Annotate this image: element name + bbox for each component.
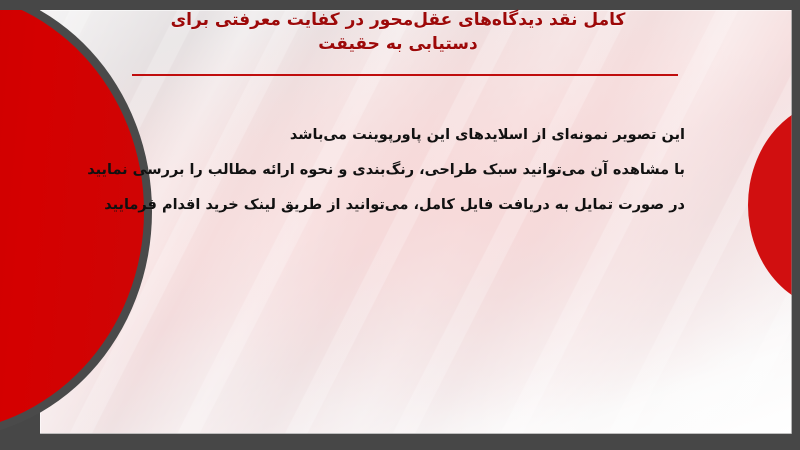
frame-right-hairline: [791, 10, 792, 434]
slide-title-line-2: دستیابی به حقیقت: [118, 32, 678, 56]
frame-right-band: [792, 0, 800, 450]
slide-title: کامل نقد دیدگاه‌های عقل‌محور در کفایت مع…: [118, 8, 678, 56]
slide-title-line-1: کامل نقد دیدگاه‌های عقل‌محور در کفایت مع…: [118, 8, 678, 32]
body-line-1: این تصویر نمونه‌ای از اسلایدهای این پاور…: [85, 118, 685, 153]
slide-body-text: این تصویر نمونه‌ای از اسلایدهای این پاور…: [85, 118, 685, 223]
body-line-3: در صورت تمایل به دریافت فایل کامل، می‌تو…: [85, 188, 685, 223]
frame-bottom-band: [0, 434, 800, 450]
body-line-2: با مشاهده آن می‌توانید سبک طراحی، رنگ‌بن…: [85, 153, 685, 188]
slide-canvas: کامل نقد دیدگاه‌های عقل‌محور در کفایت مع…: [0, 0, 800, 450]
frame-bottom-hairline: [40, 433, 792, 434]
title-underline-rule: [132, 74, 678, 76]
